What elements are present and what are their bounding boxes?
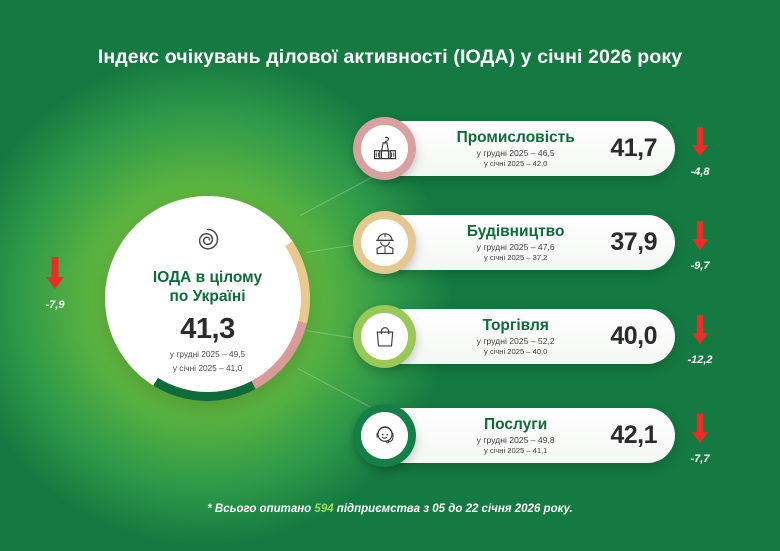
- industry-name: Промисловість: [457, 129, 575, 146]
- arrow-down-icon: [25, 255, 85, 296]
- industry-delta: -4,8: [670, 125, 730, 178]
- services-delta: -7,7: [670, 412, 730, 465]
- donut-value: 41,3: [180, 313, 234, 346]
- overall-delta-value: -7,9: [25, 299, 85, 311]
- footnote-part2: підприємства з 05 до 22 січня 2026 року.: [334, 503, 573, 515]
- trade-sub-december: у грудні 2025 – 52,2: [477, 336, 555, 346]
- overall-delta: -7,9: [25, 255, 85, 311]
- card-services[interactable]: Послуги у грудні 2025 – 49,8 у січні 202…: [375, 408, 675, 463]
- industry-badge: [353, 117, 416, 180]
- arrow-down-icon: [670, 219, 730, 257]
- arrow-down-icon: [670, 313, 730, 351]
- construction-sub-january: у січні 2025 – 37,2: [484, 253, 547, 262]
- trade-delta: -12,2: [670, 313, 730, 366]
- services-sub-december: у грудні 2025 – 49,8: [477, 435, 555, 445]
- industry-sub-december: у грудні 2025 – 46,5: [477, 148, 555, 158]
- construction-worker-icon: [361, 219, 408, 266]
- donut-sub-january: у січні 2025 – 41,0: [173, 362, 242, 374]
- construction-value: 37,9: [610, 228, 675, 257]
- trade-name: Торгівля: [482, 317, 548, 334]
- trade-sub-january: у січні 2025 – 40,0: [484, 347, 547, 356]
- construction-badge: [353, 211, 416, 274]
- donut-label-line1: ІОДА в цілому: [153, 269, 262, 288]
- spiral-swirl-logo-icon: [190, 221, 226, 262]
- footnote: * Всього опитано 594 підприємства з 05 д…: [0, 503, 780, 515]
- support-agent-icon: [361, 412, 408, 459]
- footnote-count: 594: [314, 503, 333, 515]
- services-sub-january: у січні 2025 – 41,1: [484, 446, 547, 455]
- card-construction[interactable]: Будівництво у грудні 2025 – 47,6 у січні…: [375, 215, 675, 270]
- construction-name: Будівництво: [467, 223, 565, 240]
- card-industry[interactable]: Промисловість у грудні 2025 – 46,5 у січ…: [375, 121, 675, 176]
- donut-label: ІОДА в цілому по Україні: [153, 269, 262, 307]
- connector-line-industry: [300, 174, 378, 216]
- trade-value: 40,0: [610, 322, 675, 351]
- card-trade[interactable]: Торгівля у грудні 2025 – 52,2 у січні 20…: [375, 309, 675, 364]
- services-name: Послуги: [484, 416, 547, 433]
- shopping-bag-icon: [361, 313, 408, 360]
- construction-delta: -9,7: [670, 219, 730, 272]
- overall-index-donut: ІОДА в цілому по Україні 41,3 у грудні 2…: [105, 196, 310, 401]
- page-title: Індекс очікувань ділової активності (ІОД…: [0, 46, 780, 69]
- factory-icon: [361, 125, 408, 172]
- infographic-canvas: Індекс очікувань ділової активності (ІОД…: [0, 0, 780, 551]
- services-delta-value: -7,7: [670, 453, 730, 465]
- services-value: 42,1: [610, 421, 675, 450]
- construction-delta-value: -9,7: [670, 260, 730, 272]
- donut-label-line2: по Україні: [153, 288, 262, 307]
- industry-sub-january: у січні 2025 – 42,0: [484, 159, 547, 168]
- services-badge: [353, 404, 416, 467]
- arrow-down-icon: [670, 125, 730, 163]
- trade-badge: [353, 305, 416, 368]
- donut-sub-december: у грудні 2025 – 49,5: [170, 348, 245, 360]
- trade-delta-value: -12,2: [670, 354, 730, 366]
- donut-content: ІОДА в цілому по Україні 41,3 у грудні 2…: [114, 205, 301, 392]
- industry-delta-value: -4,8: [670, 166, 730, 178]
- arrow-down-icon: [670, 412, 730, 450]
- footnote-part1: * Всього опитано: [207, 503, 314, 515]
- construction-sub-december: у грудні 2025 – 47,6: [477, 242, 555, 252]
- industry-value: 41,7: [610, 134, 675, 163]
